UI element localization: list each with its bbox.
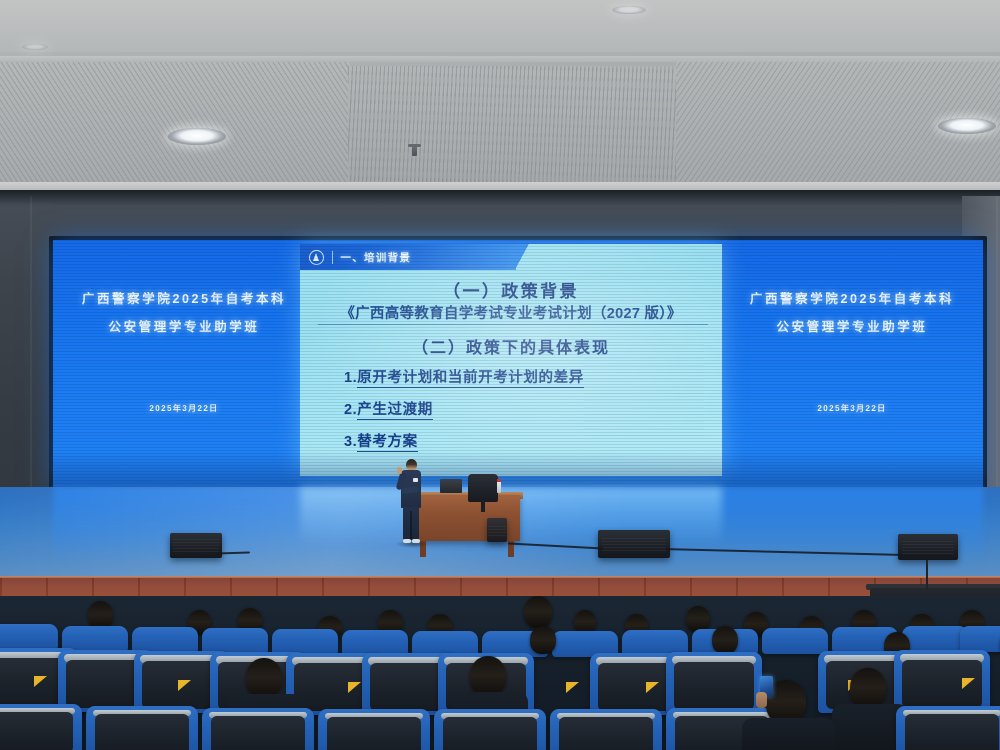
wall-seam-left bbox=[30, 196, 32, 526]
downlight-3 bbox=[612, 6, 646, 14]
ceiling bbox=[0, 0, 1000, 196]
presenter-hand bbox=[397, 467, 402, 474]
seat-cushion bbox=[0, 712, 73, 750]
lecture-hall-photo: 广西警察学院2025年自考本科 公安管理学专业助学班 2025年3月22日 广西… bbox=[0, 0, 1000, 750]
folding-tablet-arm bbox=[646, 682, 659, 693]
slide-header-label: 一、培训背景 bbox=[340, 250, 411, 265]
led-bottom-fade bbox=[53, 452, 983, 490]
water-bottle-cap bbox=[497, 479, 501, 482]
seat-front bbox=[550, 709, 662, 750]
seat-front bbox=[0, 704, 82, 750]
slide-point-3-text: 替考方案 bbox=[357, 434, 417, 452]
wall-seam-right bbox=[996, 196, 998, 526]
seat-cushion bbox=[674, 662, 755, 710]
seat bbox=[762, 628, 828, 654]
attendee-head bbox=[524, 596, 552, 628]
attendee-head bbox=[850, 668, 886, 708]
seat-front bbox=[86, 706, 198, 750]
presenter bbox=[399, 459, 423, 543]
seat-cushion bbox=[443, 717, 537, 750]
attendee-head bbox=[470, 656, 506, 696]
folding-tablet-arm bbox=[566, 682, 579, 693]
projected-slide: 一、培训背景 （一）政策背景 《广西高等教育自学考试专业考试计划（2027 版）… bbox=[300, 244, 722, 476]
slide-point-3-num: 3. bbox=[344, 434, 357, 450]
audience-seating bbox=[0, 596, 1000, 750]
slide-header-bar: 一、培训背景 bbox=[300, 244, 516, 270]
slide-point-1: 1.原开考计划和当前开考计划的差异 bbox=[344, 366, 584, 387]
stage-wedge-speaker-center bbox=[598, 530, 670, 558]
slide-point-1-text: 原开考计划和当前开考计划的差异 bbox=[357, 370, 584, 388]
led-banner-right-line2: 公安管理学专业助学班 bbox=[721, 316, 983, 335]
slide-point-2-text: 产生过渡期 bbox=[357, 402, 433, 420]
seat-back bbox=[666, 652, 762, 714]
led-banner-right-date: 2025年3月22日 bbox=[721, 403, 983, 414]
led-banner-left-date: 2025年3月22日 bbox=[53, 403, 315, 414]
attendee-phone-hand bbox=[756, 692, 767, 708]
folding-tablet-arm bbox=[962, 678, 975, 689]
slide-document-citation: 《广西高等教育自学考试专业考试计划（2027 版）》 bbox=[300, 302, 722, 323]
attendee-shoulders-phone-holder bbox=[742, 718, 834, 750]
seat-front bbox=[896, 706, 1000, 750]
attendee-head bbox=[88, 601, 113, 629]
slide-point-2: 2.产生过渡期 bbox=[344, 398, 433, 419]
ceiling-flat-section bbox=[0, 0, 1000, 52]
mic-stand bbox=[926, 560, 928, 590]
downlight-2 bbox=[938, 118, 996, 134]
presenter-shoe-right bbox=[412, 539, 420, 543]
seat bbox=[902, 626, 968, 652]
seat-cushion bbox=[559, 717, 653, 750]
led-banner-left-line1: 广西警察学院2025年自考本科 bbox=[53, 288, 315, 307]
ceiling-panel-left bbox=[0, 62, 350, 188]
slide-section-two-title: （二）政策下的具体表现 bbox=[300, 334, 722, 358]
folding-tablet-arm bbox=[348, 682, 361, 693]
header-divider bbox=[332, 251, 333, 264]
presenter-uniform-badge bbox=[413, 478, 418, 482]
slide-divider-rule bbox=[318, 324, 708, 325]
seat-cushion bbox=[905, 714, 999, 750]
seat-front bbox=[318, 709, 430, 750]
led-banner-left-line2: 公安管理学专业助学班 bbox=[53, 316, 315, 335]
office-chair bbox=[468, 474, 498, 502]
led-banner-right-line1: 广西警察学院2025年自考本科 bbox=[721, 288, 983, 307]
slide-point-2-num: 2. bbox=[344, 402, 357, 418]
slide-point-1-num: 1. bbox=[344, 370, 357, 386]
chair-stem bbox=[481, 500, 485, 512]
slide-point-3: 3.替考方案 bbox=[344, 430, 418, 451]
presenter-legs bbox=[403, 507, 419, 540]
laptop bbox=[440, 479, 462, 493]
sprinkler-head-icon bbox=[412, 144, 417, 156]
ceiling-panel-center bbox=[348, 66, 678, 188]
folding-tablet-arm bbox=[34, 676, 47, 687]
presenter-shoe-left bbox=[403, 539, 411, 543]
stage-wedge-speaker-left bbox=[170, 533, 222, 558]
seat-back bbox=[894, 650, 990, 712]
stage-wedge-speaker-right bbox=[898, 534, 958, 560]
monitor-speaker-behind-desk bbox=[487, 518, 507, 542]
attendee-head bbox=[530, 626, 556, 654]
slide-section-one-title: （一）政策背景 bbox=[300, 277, 722, 302]
seat-front bbox=[434, 709, 546, 750]
downlight-4 bbox=[22, 44, 48, 50]
seat-cushion bbox=[327, 717, 421, 750]
attendee-head bbox=[246, 658, 282, 698]
seat-cushion bbox=[211, 716, 305, 750]
ceiling-rail-upper bbox=[0, 56, 1000, 62]
wall-top-shadow bbox=[0, 190, 1000, 206]
downlight-1 bbox=[168, 128, 226, 145]
seat bbox=[960, 626, 1000, 652]
attendee-head bbox=[712, 626, 738, 654]
seat-cushion bbox=[95, 714, 189, 750]
water-bottle bbox=[497, 481, 501, 493]
academy-badge-icon bbox=[309, 250, 324, 265]
seat-front bbox=[202, 708, 314, 750]
folding-tablet-arm bbox=[178, 680, 191, 691]
seat bbox=[0, 624, 58, 650]
